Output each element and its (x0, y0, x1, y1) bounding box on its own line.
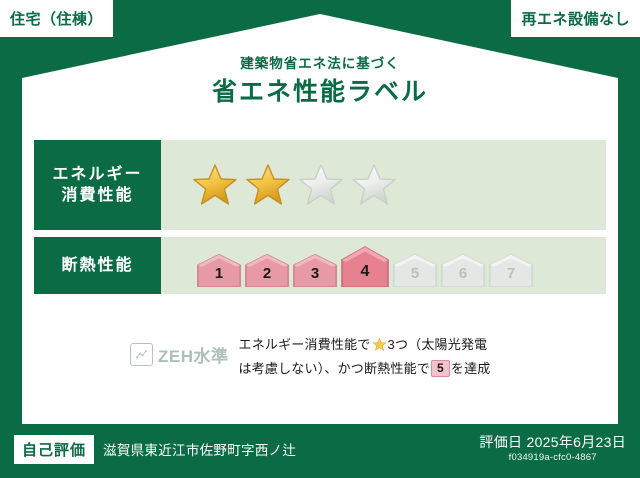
insulation-level-number: 4 (361, 263, 370, 287)
desc-part-3: は考慮しない）、かつ断熱性能で (239, 361, 431, 376)
insulation-level-4: 4 (340, 245, 390, 287)
label-id: f034919a-cfc0-4867 (479, 452, 626, 465)
star-empty-icon (350, 161, 398, 209)
insulation-level-5: 5 (392, 253, 438, 287)
label-title-block: 建築物省エネ法に基づく 省エネ性能ラベル (0, 56, 640, 107)
energy-performance-value (161, 140, 606, 230)
insulation-level-number: 1 (215, 265, 223, 287)
page-title: 省エネ性能ラベル (0, 78, 640, 107)
insulation-level-number: 3 (311, 265, 319, 287)
zeh-description-block: ZEH水準 エネルギー消費性能で 3つ（太陽光発電 は考慮しない）、かつ断熱性能… (130, 334, 491, 379)
zeh-label: ZEH水準 (158, 342, 229, 367)
insulation-performance-label-box: 断熱性能 (34, 237, 161, 294)
energy-label-line2: 消費性能 (61, 185, 133, 206)
insulation-level-number: 2 (263, 265, 271, 287)
insulation-label: 断熱性能 (61, 255, 133, 276)
insulation-level-1: 1 (196, 253, 242, 287)
insulation-level-scale: 1234567 (191, 245, 534, 287)
title-subtitle: 建築物省エネ法に基づく (0, 56, 640, 72)
star-empty-icon (297, 161, 345, 209)
zeh-badge: ZEH水準 (130, 334, 229, 367)
insulation-level-number: 6 (459, 265, 467, 287)
energy-label-line1: エネルギー (52, 164, 142, 185)
star-filled-icon (191, 161, 239, 209)
footer-right-group: 評価日 2025年6月23日 f034919a-cfc0-4867 (479, 433, 626, 465)
zeh-mark-icon (130, 343, 153, 366)
energy-performance-label-box: エネルギー 消費性能 (34, 140, 161, 230)
star-rating (191, 161, 398, 209)
label-footer: 自己評価 滋賀県東近江市佐野町字西ノ辻 評価日 2025年6月23日 f0349… (0, 424, 640, 478)
footer-left-group: 自己評価 滋賀県東近江市佐野町字西ノ辻 (14, 435, 296, 464)
insulation-level-3: 3 (292, 253, 338, 287)
insulation-performance-value: 1234567 (161, 237, 606, 294)
energy-performance-label: 住宅（住棟） 再エネ設備なし 建築物省エネ法に基づく 省エネ性能ラベル エネルギ… (0, 0, 640, 478)
achievement-description: エネルギー消費性能で 3つ（太陽光発電 は考慮しない）、かつ断熱性能で5を達成 (239, 334, 491, 379)
desc-part-4: を達成 (451, 361, 491, 376)
insulation-level-7: 7 (488, 253, 534, 287)
evaluation-date: 評価日 2025年6月23日 (479, 433, 626, 452)
energy-performance-row: エネルギー 消費性能 (34, 140, 606, 230)
building-type-tag: 住宅（住棟） (0, 0, 113, 37)
insulation-level-6: 6 (440, 253, 486, 287)
star-filled-icon (244, 161, 292, 209)
self-evaluation-badge: 自己評価 (14, 435, 94, 464)
desc-part-2: 3つ（太陽光発電 (388, 337, 488, 352)
renewable-energy-tag: 再エネ設備なし (511, 0, 640, 37)
insulation-level-2: 2 (244, 253, 290, 287)
desc-part-1: エネルギー消費性能で (239, 337, 371, 352)
insulation-performance-row: 断熱性能 1234567 (34, 237, 606, 294)
insulation-level-number: 7 (507, 265, 515, 287)
property-address: 滋賀県東近江市佐野町字西ノ辻 (103, 439, 296, 459)
inline-star-icon (372, 337, 387, 358)
insulation-level-chip: 5 (431, 360, 450, 377)
insulation-level-number: 5 (411, 265, 419, 287)
